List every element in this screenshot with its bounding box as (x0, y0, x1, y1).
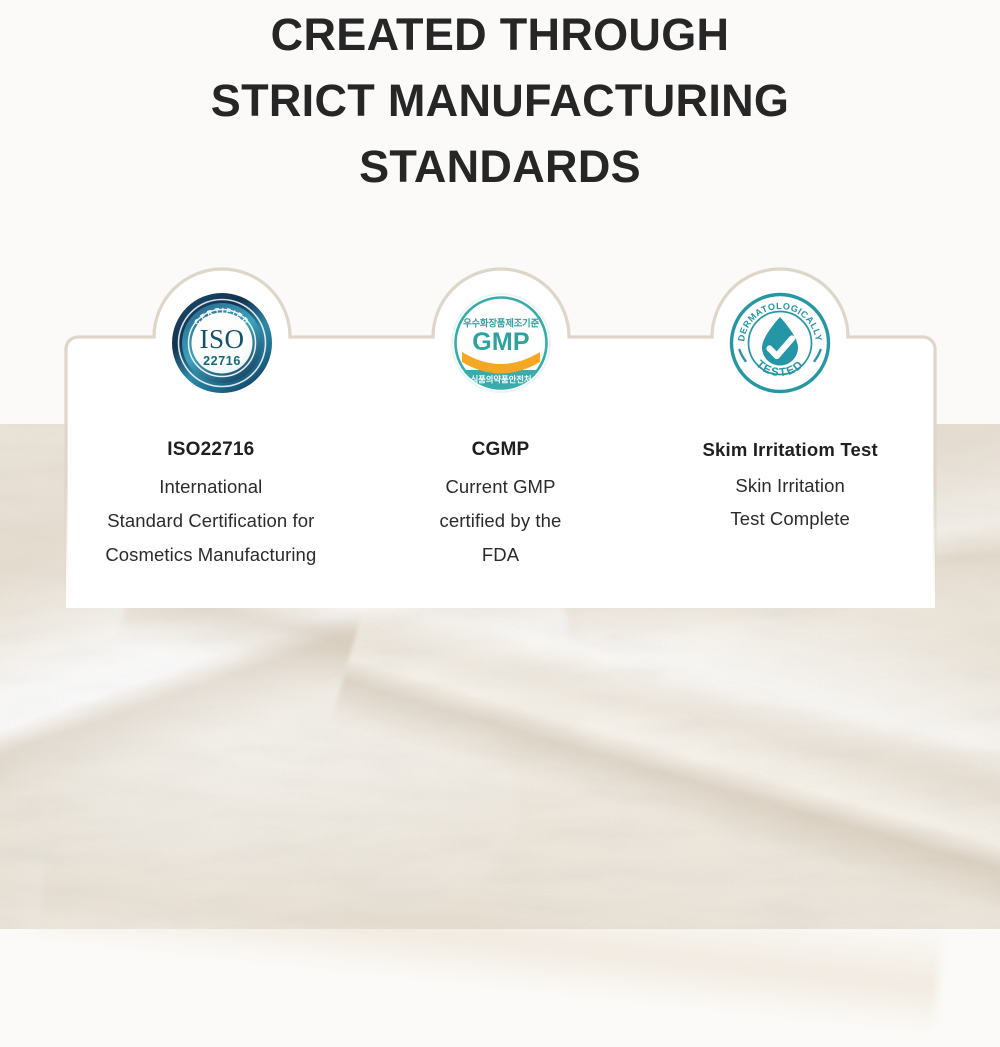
caption-iso22716: ISO22716 International Standard Certific… (66, 437, 356, 572)
caption-line: Current GMP (362, 470, 640, 504)
caption-title: CGMP (362, 437, 640, 463)
headline-line-2: STRICT MANUFACTURING (0, 68, 1000, 134)
caption-line: Skin Irritation (651, 469, 929, 502)
gmp-main-text: GMP (472, 328, 530, 356)
caption-skin-irritation-test: Skim Irritatiom Test Skin Irritation Tes… (645, 437, 935, 572)
cgmp-korea-mfds-badge: 우수화장품제조기준 GMP 식품의약품안전처 (450, 292, 552, 394)
caption-body: Current GMP certified by the FDA (362, 470, 640, 572)
caption-body: Skin Irritation Test Complete (651, 469, 929, 535)
caption-line: Standard Certification for (72, 504, 350, 538)
gmp-bottom-korean-text: 식품의약품안전처 (471, 375, 532, 385)
caption-line: International (72, 470, 350, 504)
caption-line: certified by the (362, 504, 640, 538)
caption-line: Cosmetics Manufacturing (72, 538, 350, 572)
caption-body: International Standard Certification for… (72, 470, 350, 572)
iso-sub-text: 22716 (203, 354, 241, 368)
caption-cgmp: CGMP Current GMP certified by the FDA (356, 437, 646, 572)
page-title: CREATED THROUGH STRICT MANUFACTURING STA… (0, 2, 1000, 200)
caption-line: Test Complete (651, 502, 929, 535)
headline-line-3: STANDARDS (0, 134, 1000, 200)
caption-line: FDA (362, 538, 640, 572)
dermatologically-tested-badge: DERMATOLOGICALLY TESTED (729, 292, 831, 394)
iso-22716-certified-badge: CERTIFIED ISO 22716 (171, 292, 273, 394)
caption-title: ISO22716 (72, 437, 350, 463)
headline-line-1: CREATED THROUGH (0, 2, 1000, 68)
caption-title: Skim Irritatiom Test (651, 437, 929, 463)
iso-main-text: ISO (200, 324, 245, 354)
captions-row: ISO22716 International Standard Certific… (66, 437, 935, 572)
